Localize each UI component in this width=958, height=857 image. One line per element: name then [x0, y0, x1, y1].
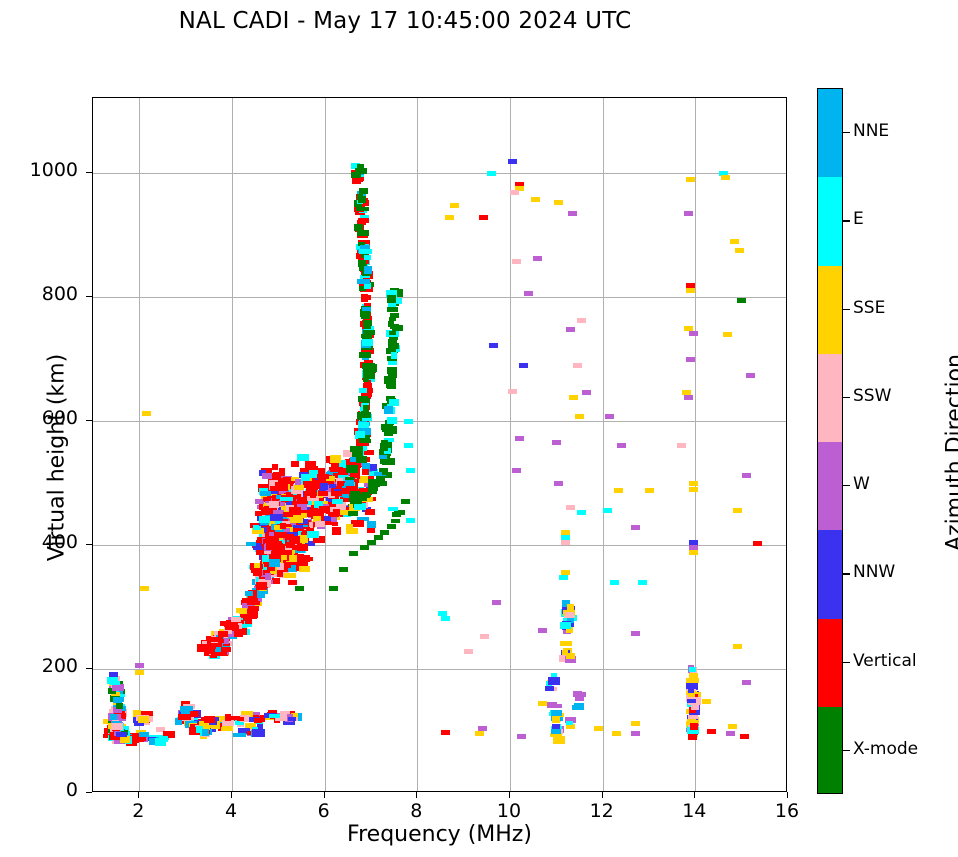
x-axis-tick — [602, 792, 603, 798]
echo-mark — [315, 521, 326, 527]
echo-mark — [364, 323, 371, 330]
echo-mark — [684, 395, 693, 400]
echo-mark — [339, 567, 348, 572]
echo-mark — [359, 188, 368, 193]
echo-mark — [110, 681, 120, 685]
echo-mark — [566, 721, 574, 725]
echo-mark — [253, 568, 263, 576]
echo-mark — [285, 512, 294, 517]
echo-mark — [524, 291, 533, 296]
echo-mark — [549, 704, 562, 708]
echo-mark — [631, 721, 640, 726]
echo-mark — [331, 517, 337, 522]
echo-mark — [361, 492, 370, 498]
echo-mark — [280, 497, 293, 502]
echo-mark — [202, 729, 208, 736]
echo-mark — [364, 266, 373, 274]
data-marks-layer — [93, 98, 786, 791]
x-axis-tick — [694, 792, 695, 798]
x-axis-tick-label: 2 — [108, 800, 168, 822]
echo-mark — [382, 427, 390, 432]
echo-mark — [269, 714, 280, 718]
echo-mark — [329, 484, 336, 489]
echo-mark — [388, 507, 398, 511]
echo-mark — [360, 545, 369, 550]
y-axis-tick-label: 600 — [8, 407, 78, 429]
echo-mark — [567, 604, 574, 612]
echo-mark — [689, 550, 698, 555]
echo-mark — [515, 436, 524, 441]
echo-mark — [568, 211, 577, 216]
echo-mark — [538, 628, 547, 633]
echo-mark — [552, 716, 561, 723]
colorbar-segment-e — [818, 177, 842, 266]
echo-mark — [364, 283, 371, 289]
echo-mark — [388, 377, 395, 385]
echo-mark — [538, 701, 547, 706]
echo-mark — [379, 455, 387, 460]
y-axis-tick — [86, 172, 92, 173]
echo-mark — [297, 497, 308, 504]
x-axis-tick — [416, 792, 417, 798]
ionogram-figure: NAL CADI - May 17 10:45:00 2024 UTC Freq… — [0, 0, 958, 857]
echo-mark — [280, 523, 286, 529]
echo-mark — [753, 541, 762, 546]
x-axis-tick-label: 8 — [386, 800, 446, 822]
echo-mark — [248, 613, 257, 619]
echo-mark — [445, 215, 454, 220]
colorbar-segment-nnw — [818, 530, 842, 619]
echo-mark — [209, 649, 215, 654]
echo-mark — [489, 343, 498, 348]
echo-mark — [361, 297, 368, 302]
echo-mark — [512, 468, 521, 473]
echo-mark — [401, 499, 410, 504]
echo-mark — [311, 486, 318, 490]
x-axis-tick — [509, 792, 510, 798]
echo-mark — [225, 714, 231, 721]
echo-mark — [350, 491, 360, 498]
echo-mark — [387, 295, 397, 303]
echo-mark — [279, 468, 285, 476]
echo-mark — [389, 399, 399, 405]
echo-mark — [690, 723, 698, 730]
echo-mark — [610, 580, 619, 585]
echo-mark — [612, 731, 621, 736]
echo-mark — [211, 637, 223, 642]
echo-mark — [464, 649, 473, 654]
x-axis-tick-label: 12 — [572, 800, 632, 822]
echo-mark — [742, 473, 751, 478]
echo-mark — [517, 734, 526, 739]
echo-mark — [603, 508, 612, 513]
echo-mark — [687, 719, 696, 724]
echo-mark — [359, 352, 371, 358]
echo-mark — [726, 731, 735, 736]
echo-mark — [204, 716, 216, 723]
echo-mark — [631, 525, 640, 530]
echo-mark — [689, 487, 698, 492]
y-axis-tick — [86, 296, 92, 297]
colorbar-segment-vertical — [818, 619, 842, 708]
echo-mark — [554, 200, 563, 205]
echo-mark — [330, 455, 340, 463]
echo-mark — [247, 601, 260, 606]
echo-mark — [638, 580, 647, 585]
colorbar-tick — [843, 573, 850, 574]
echo-mark — [262, 473, 272, 480]
echo-mark — [365, 364, 378, 372]
colorbar-label-vertical: Vertical — [853, 651, 917, 671]
echo-mark — [548, 677, 560, 685]
echo-mark — [688, 715, 699, 719]
colorbar-label-nne: NNE — [853, 121, 889, 141]
plot-area — [92, 97, 787, 792]
echo-mark — [367, 528, 375, 533]
echo-mark — [553, 736, 565, 744]
echo-mark — [737, 298, 746, 303]
colorbar-label-x-mode: X-mode — [853, 739, 918, 759]
echo-mark — [317, 474, 329, 479]
echo-mark — [689, 667, 696, 672]
colorbar-tick — [843, 309, 850, 310]
echo-mark — [559, 575, 568, 580]
echo-mark — [348, 511, 358, 516]
echo-mark — [265, 573, 271, 581]
echo-mark — [363, 330, 375, 334]
echo-mark — [346, 524, 353, 532]
echo-mark — [358, 218, 369, 222]
echo-mark — [110, 714, 117, 720]
echo-mark — [478, 726, 487, 731]
echo-mark — [116, 732, 127, 737]
echo-mark — [297, 454, 309, 461]
echo-mark — [266, 543, 272, 550]
y-axis-tick — [86, 544, 92, 545]
echo-mark — [519, 363, 528, 368]
echo-mark — [404, 443, 413, 448]
echo-mark — [406, 518, 415, 523]
echo-mark — [295, 586, 304, 591]
echo-mark — [582, 390, 591, 395]
x-axis-tick — [138, 792, 139, 798]
echo-mark — [387, 524, 396, 529]
echo-mark — [259, 516, 270, 524]
echo-mark — [272, 464, 279, 469]
echo-mark — [740, 734, 749, 739]
echo-mark — [197, 644, 209, 651]
echo-mark — [320, 483, 328, 490]
echo-mark — [406, 468, 415, 473]
x-axis-tick — [231, 792, 232, 798]
echo-mark — [686, 288, 695, 293]
colorbar-label-w: W — [853, 474, 870, 494]
y-axis-title: Virtual height (km) — [45, 293, 70, 623]
echo-mark — [565, 612, 573, 616]
echo-mark — [577, 510, 586, 515]
echo-mark — [575, 414, 584, 419]
echo-mark — [362, 469, 370, 475]
echo-mark — [480, 634, 489, 639]
echo-mark — [221, 647, 231, 652]
y-axis-tick-label: 1000 — [8, 159, 78, 181]
echo-mark — [573, 363, 582, 368]
echo-mark — [256, 582, 267, 589]
echo-mark — [284, 573, 296, 578]
echo-mark — [269, 501, 280, 507]
x-axis-tick-label: 14 — [664, 800, 724, 822]
echo-mark — [359, 249, 372, 254]
echo-mark — [288, 580, 297, 585]
echo-mark — [190, 711, 199, 717]
echo-mark — [566, 505, 575, 510]
echo-mark — [189, 727, 196, 733]
echo-mark — [688, 688, 694, 693]
echo-mark — [352, 452, 363, 456]
echo-mark — [531, 197, 540, 202]
x-axis-tick-label: 6 — [294, 800, 354, 822]
echo-mark — [746, 373, 755, 378]
echo-mark — [140, 586, 149, 591]
colorbar-segment-w — [818, 442, 842, 531]
echo-mark — [294, 485, 304, 491]
echo-mark — [272, 544, 284, 548]
echo-mark — [299, 566, 310, 573]
echo-mark — [358, 196, 366, 203]
echo-mark — [210, 643, 222, 647]
echo-mark — [508, 159, 517, 164]
echo-mark — [569, 395, 578, 400]
echo-mark — [686, 678, 699, 683]
y-axis-tick-label: 800 — [8, 283, 78, 305]
echo-mark — [270, 514, 283, 522]
echo-mark — [686, 357, 695, 362]
echo-mark — [305, 461, 316, 468]
echo-mark — [573, 691, 583, 698]
echo-mark — [552, 440, 561, 445]
echo-mark — [275, 482, 281, 487]
echo-mark — [735, 248, 744, 253]
echo-mark — [358, 396, 368, 403]
echo-mark — [394, 510, 405, 515]
echo-mark — [512, 259, 521, 264]
echo-mark — [253, 525, 260, 530]
echo-mark — [281, 484, 288, 490]
echo-mark — [330, 512, 339, 517]
colorbar-label-e: E — [853, 209, 864, 229]
echo-mark — [257, 590, 265, 598]
y-axis-tick-label: 200 — [8, 655, 78, 677]
echo-mark — [297, 544, 308, 551]
y-axis-tick — [86, 668, 92, 669]
echo-mark — [362, 463, 370, 469]
echo-mark — [645, 488, 654, 493]
echo-mark — [135, 737, 145, 741]
echo-mark — [388, 360, 397, 365]
echo-mark — [684, 211, 693, 216]
x-axis-tick-label: 16 — [757, 800, 817, 822]
echo-mark — [594, 726, 603, 731]
echo-mark — [510, 190, 519, 195]
echo-mark — [359, 439, 372, 443]
echo-mark — [362, 339, 373, 346]
echo-mark — [231, 617, 241, 621]
echo-mark — [355, 168, 367, 174]
echo-mark — [566, 327, 575, 332]
echo-mark — [111, 723, 123, 730]
echo-mark — [561, 540, 570, 545]
echo-mark — [356, 456, 367, 463]
echo-mark — [617, 443, 626, 448]
echo-mark — [357, 279, 369, 284]
echo-mark — [689, 481, 698, 486]
y-axis-tick-label: 400 — [8, 531, 78, 553]
echo-mark — [384, 406, 394, 414]
echo-mark — [233, 733, 246, 737]
echo-mark — [560, 622, 572, 629]
x-axis-tick — [787, 792, 788, 798]
echo-mark — [362, 412, 370, 418]
echo-mark — [310, 492, 317, 498]
colorbar-label-nnw: NNW — [853, 562, 895, 582]
echo-mark — [441, 730, 450, 735]
echo-mark — [155, 738, 166, 746]
echo-mark — [274, 532, 287, 538]
x-axis-tick-label: 4 — [201, 800, 261, 822]
echo-mark — [389, 317, 396, 321]
echo-mark — [309, 509, 321, 517]
echo-mark — [388, 343, 400, 349]
echo-mark — [631, 631, 640, 636]
echo-mark — [487, 171, 496, 176]
echo-mark — [349, 551, 358, 556]
echo-mark — [246, 542, 255, 546]
echo-mark — [359, 388, 367, 392]
echo-mark — [733, 508, 742, 513]
echo-mark — [116, 703, 123, 710]
echo-mark — [381, 445, 388, 450]
echo-mark — [218, 631, 229, 637]
echo-mark — [365, 509, 375, 515]
echo-mark — [361, 311, 370, 319]
echo-mark — [286, 534, 294, 539]
echo-mark — [733, 644, 742, 649]
echo-mark — [225, 623, 238, 630]
echo-mark — [370, 464, 377, 472]
echo-mark — [329, 586, 338, 591]
echo-mark — [721, 175, 730, 180]
echo-mark — [614, 488, 623, 493]
echo-mark — [239, 608, 247, 615]
echo-mark — [404, 419, 413, 424]
echo-mark — [356, 207, 369, 212]
x-axis-tick — [324, 792, 325, 798]
echo-mark — [475, 731, 484, 736]
echo-mark — [391, 352, 398, 359]
colorbar-tick — [843, 397, 850, 398]
echo-mark — [109, 672, 119, 677]
echo-mark — [387, 367, 397, 374]
echo-mark — [135, 670, 144, 675]
chart-title: NAL CADI - May 17 10:45:00 2024 UTC — [0, 8, 810, 34]
colorbar-segment-x-mode — [818, 707, 842, 794]
echo-mark — [295, 479, 301, 484]
colorbar-segment-nne — [818, 89, 842, 178]
colorbar-tick — [843, 485, 850, 486]
echo-mark — [686, 177, 695, 182]
echo-mark — [691, 704, 699, 710]
echo-mark — [245, 591, 253, 596]
echo-mark — [357, 230, 368, 237]
colorbar-segment-ssw — [818, 354, 842, 443]
echo-mark — [689, 331, 698, 336]
echo-mark — [723, 332, 732, 337]
echo-mark — [286, 542, 295, 549]
echo-mark — [368, 479, 379, 487]
echo-mark — [382, 471, 388, 475]
echo-mark — [291, 461, 299, 467]
echo-mark — [332, 527, 341, 534]
colorbar-segment-sse — [818, 266, 842, 355]
colorbar — [817, 88, 843, 794]
echo-mark — [577, 318, 586, 323]
echo-mark — [702, 699, 711, 704]
echo-mark — [677, 443, 686, 448]
echo-mark — [707, 729, 716, 734]
echo-mark — [237, 717, 243, 721]
colorbar-tick — [843, 662, 850, 663]
echo-mark — [346, 465, 359, 473]
echo-mark — [551, 710, 562, 716]
echo-mark — [254, 718, 263, 724]
colorbar-label-ssw: SSW — [853, 386, 891, 406]
echo-mark — [572, 705, 582, 710]
echo-mark — [631, 731, 640, 736]
echo-mark — [391, 519, 400, 523]
echo-mark — [260, 491, 271, 496]
echo-mark — [730, 239, 739, 244]
echo-mark — [248, 606, 259, 611]
echo-mark — [135, 663, 144, 668]
echo-mark — [508, 389, 517, 394]
colorbar-tick — [843, 750, 850, 751]
colorbar-tick — [843, 132, 850, 133]
echo-mark — [387, 417, 397, 425]
x-axis-tick-label: 10 — [479, 800, 539, 822]
echo-mark — [492, 600, 501, 605]
echo-mark — [560, 641, 572, 646]
echo-mark — [687, 699, 696, 704]
colorbar-tick — [843, 220, 850, 221]
y-axis-tick — [86, 420, 92, 421]
echo-mark — [479, 215, 488, 220]
echo-mark — [441, 616, 450, 621]
echo-mark — [551, 729, 561, 734]
echo-mark — [272, 578, 280, 583]
echo-mark — [688, 733, 697, 740]
echo-mark — [288, 717, 296, 721]
echo-mark — [387, 307, 398, 312]
echo-mark — [345, 480, 354, 486]
y-axis-tick-label: 0 — [8, 779, 78, 801]
echo-mark — [533, 256, 542, 261]
echo-mark — [545, 686, 554, 691]
echo-mark — [318, 491, 328, 496]
echo-mark — [307, 531, 320, 538]
echo-mark — [252, 729, 265, 737]
echo-mark — [138, 716, 149, 723]
echo-mark — [450, 203, 459, 208]
